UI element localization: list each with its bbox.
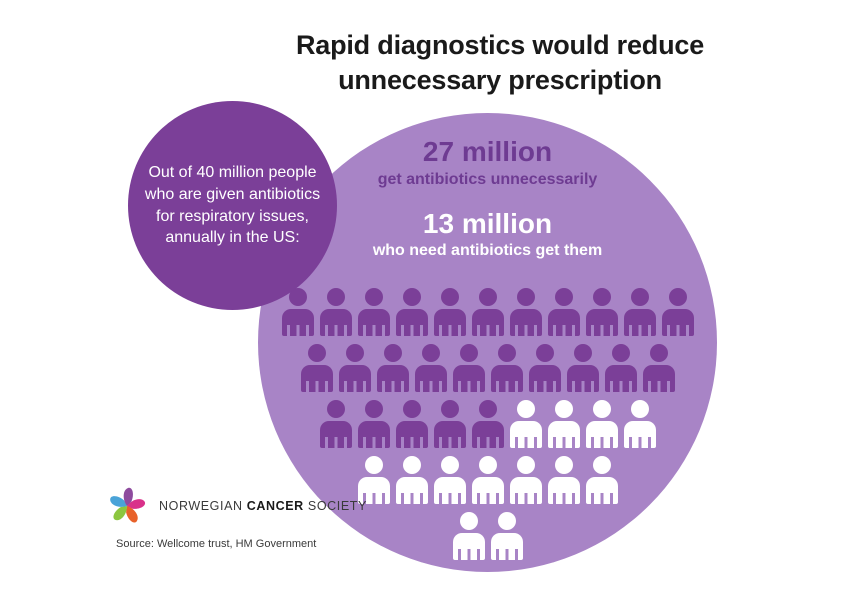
person-arm-left bbox=[382, 381, 385, 392]
person-arm-right bbox=[344, 437, 347, 448]
person-head-icon bbox=[479, 456, 497, 474]
person-head-icon bbox=[536, 344, 554, 362]
person-icon bbox=[624, 400, 656, 448]
person-head-icon bbox=[384, 344, 402, 362]
person-head-icon bbox=[612, 344, 630, 362]
person-arm-right bbox=[344, 325, 347, 336]
person-arm-left bbox=[401, 325, 404, 336]
person-leg-gap bbox=[467, 381, 470, 392]
person-arm-left bbox=[553, 493, 556, 504]
person-arm-right bbox=[534, 325, 537, 336]
person-arm-left bbox=[496, 549, 499, 560]
person-arm-right bbox=[515, 381, 518, 392]
person-icon bbox=[491, 512, 523, 560]
person-leg-gap bbox=[524, 437, 527, 448]
person-arm-left bbox=[401, 493, 404, 504]
person-arm-right bbox=[648, 437, 651, 448]
person-leg-gap bbox=[486, 493, 489, 504]
person-icon bbox=[472, 456, 504, 504]
person-leg-gap bbox=[619, 381, 622, 392]
person-arm-left bbox=[458, 549, 461, 560]
person-head-icon bbox=[517, 456, 535, 474]
person-arm-left bbox=[458, 381, 461, 392]
person-leg-gap bbox=[600, 325, 603, 336]
person-head-icon bbox=[593, 456, 611, 474]
person-arm-right bbox=[572, 437, 575, 448]
person-icon bbox=[358, 288, 390, 336]
person-icon bbox=[662, 288, 694, 336]
person-head-icon bbox=[422, 344, 440, 362]
person-arm-left bbox=[439, 493, 442, 504]
person-leg-gap bbox=[486, 325, 489, 336]
logo-name-part1: NORWEGIAN bbox=[159, 499, 247, 513]
pinwheel-logo-icon bbox=[104, 483, 150, 529]
pictogram-row-3 bbox=[258, 400, 717, 448]
person-leg-gap bbox=[372, 325, 375, 336]
person-arm-right bbox=[420, 493, 423, 504]
person-arm-left bbox=[420, 381, 423, 392]
infographic-canvas: Rapid diagnostics would reduce unnecessa… bbox=[0, 0, 841, 595]
person-arm-right bbox=[496, 493, 499, 504]
person-arm-right bbox=[382, 325, 385, 336]
person-arm-left bbox=[401, 437, 404, 448]
person-icon bbox=[643, 344, 675, 392]
person-leg-gap bbox=[486, 437, 489, 448]
person-leg-gap bbox=[296, 325, 299, 336]
person-head-icon bbox=[441, 456, 459, 474]
person-head-icon bbox=[669, 288, 687, 306]
person-arm-left bbox=[363, 437, 366, 448]
person-leg-gap bbox=[600, 437, 603, 448]
person-leg-gap bbox=[315, 381, 318, 392]
person-icon bbox=[453, 512, 485, 560]
person-icon bbox=[396, 456, 428, 504]
person-icon bbox=[548, 456, 580, 504]
person-icon bbox=[320, 288, 352, 336]
person-arm-right bbox=[629, 381, 632, 392]
person-leg-gap bbox=[448, 325, 451, 336]
person-leg-gap bbox=[372, 437, 375, 448]
person-arm-right bbox=[382, 437, 385, 448]
person-icon bbox=[358, 400, 390, 448]
person-leg-gap bbox=[638, 325, 641, 336]
person-icon bbox=[510, 288, 542, 336]
person-icon bbox=[548, 400, 580, 448]
person-arm-left bbox=[534, 381, 537, 392]
person-head-icon bbox=[365, 400, 383, 418]
person-arm-right bbox=[496, 437, 499, 448]
person-arm-right bbox=[667, 381, 670, 392]
person-arm-right bbox=[515, 549, 518, 560]
person-arm-right bbox=[401, 381, 404, 392]
person-icon bbox=[472, 400, 504, 448]
person-arm-left bbox=[287, 325, 290, 336]
person-head-icon bbox=[498, 512, 516, 530]
person-arm-right bbox=[420, 437, 423, 448]
person-head-icon bbox=[479, 400, 497, 418]
person-icon bbox=[586, 400, 618, 448]
person-arm-left bbox=[629, 325, 632, 336]
person-head-icon bbox=[517, 288, 535, 306]
person-leg-gap bbox=[562, 437, 565, 448]
person-arm-left bbox=[648, 381, 651, 392]
person-arm-left bbox=[477, 325, 480, 336]
callout-text: Out of 40 million people who are given a… bbox=[143, 162, 323, 248]
person-leg-gap bbox=[410, 325, 413, 336]
person-leg-gap bbox=[638, 437, 641, 448]
person-arm-right bbox=[420, 325, 423, 336]
person-leg-gap bbox=[429, 381, 432, 392]
person-arm-right bbox=[363, 381, 366, 392]
person-leg-gap bbox=[505, 549, 508, 560]
person-head-icon bbox=[365, 288, 383, 306]
person-head-icon bbox=[593, 400, 611, 418]
person-leg-gap bbox=[676, 325, 679, 336]
person-head-icon bbox=[593, 288, 611, 306]
person-icon bbox=[320, 400, 352, 448]
person-head-icon bbox=[555, 400, 573, 418]
person-arm-left bbox=[591, 437, 594, 448]
person-leg-gap bbox=[657, 381, 660, 392]
person-head-icon bbox=[650, 344, 668, 362]
person-arm-left bbox=[496, 381, 499, 392]
person-arm-right bbox=[496, 325, 499, 336]
person-arm-right bbox=[534, 437, 537, 448]
person-icon bbox=[339, 344, 371, 392]
person-arm-left bbox=[439, 437, 442, 448]
person-arm-left bbox=[553, 325, 556, 336]
person-leg-gap bbox=[505, 381, 508, 392]
person-leg-gap bbox=[600, 493, 603, 504]
person-arm-left bbox=[306, 381, 309, 392]
person-icon bbox=[472, 288, 504, 336]
person-icon bbox=[396, 288, 428, 336]
person-head-icon bbox=[631, 400, 649, 418]
person-head-icon bbox=[403, 288, 421, 306]
person-arm-right bbox=[648, 325, 651, 336]
person-leg-gap bbox=[581, 381, 584, 392]
person-arm-right bbox=[382, 493, 385, 504]
person-head-icon bbox=[574, 344, 592, 362]
person-leg-gap bbox=[448, 493, 451, 504]
person-arm-right bbox=[572, 493, 575, 504]
person-arm-left bbox=[439, 325, 442, 336]
person-arm-right bbox=[306, 325, 309, 336]
person-head-icon bbox=[517, 400, 535, 418]
person-icon bbox=[510, 400, 542, 448]
person-leg-gap bbox=[467, 549, 470, 560]
person-head-icon bbox=[403, 456, 421, 474]
person-head-icon bbox=[460, 344, 478, 362]
person-leg-gap bbox=[372, 493, 375, 504]
person-leg-gap bbox=[543, 381, 546, 392]
person-icon bbox=[282, 288, 314, 336]
person-arm-left bbox=[344, 381, 347, 392]
person-arm-right bbox=[458, 325, 461, 336]
callout-circle: Out of 40 million people who are given a… bbox=[128, 101, 337, 310]
person-head-icon bbox=[441, 400, 459, 418]
person-leg-gap bbox=[334, 437, 337, 448]
person-icon bbox=[434, 456, 466, 504]
person-arm-left bbox=[515, 493, 518, 504]
person-arm-left bbox=[572, 381, 575, 392]
person-head-icon bbox=[346, 344, 364, 362]
person-arm-left bbox=[515, 325, 518, 336]
person-arm-left bbox=[553, 437, 556, 448]
person-arm-left bbox=[363, 325, 366, 336]
person-arm-right bbox=[534, 493, 537, 504]
person-leg-gap bbox=[334, 325, 337, 336]
pictogram-row-1 bbox=[258, 288, 717, 336]
page-title-line-2: unnecessary prescription bbox=[240, 63, 760, 98]
person-icon bbox=[434, 288, 466, 336]
person-icon bbox=[605, 344, 637, 392]
logo-name-part2: SOCIETY bbox=[304, 499, 367, 513]
person-arm-right bbox=[686, 325, 689, 336]
person-arm-right bbox=[572, 325, 575, 336]
page-title-line-1: Rapid diagnostics would reduce bbox=[240, 28, 760, 63]
person-arm-right bbox=[553, 381, 556, 392]
person-icon bbox=[567, 344, 599, 392]
person-arm-left bbox=[515, 437, 518, 448]
person-head-icon bbox=[403, 400, 421, 418]
person-arm-left bbox=[667, 325, 670, 336]
pictogram-row-2 bbox=[258, 344, 717, 392]
person-arm-right bbox=[458, 437, 461, 448]
person-leg-gap bbox=[524, 325, 527, 336]
person-arm-left bbox=[325, 325, 328, 336]
person-icon bbox=[434, 400, 466, 448]
person-head-icon bbox=[327, 400, 345, 418]
person-head-icon bbox=[498, 344, 516, 362]
person-icon bbox=[415, 344, 447, 392]
person-arm-right bbox=[458, 493, 461, 504]
person-icon bbox=[453, 344, 485, 392]
page-title: Rapid diagnostics would reduce unnecessa… bbox=[240, 28, 760, 97]
person-arm-right bbox=[325, 381, 328, 392]
person-arm-left bbox=[591, 493, 594, 504]
person-head-icon bbox=[365, 456, 383, 474]
organization-logo: NORWEGIAN CANCER SOCIETY bbox=[104, 483, 367, 529]
person-leg-gap bbox=[562, 325, 565, 336]
person-arm-left bbox=[477, 493, 480, 504]
logo-name-bold: CANCER bbox=[247, 499, 304, 513]
person-arm-right bbox=[439, 381, 442, 392]
person-arm-right bbox=[477, 549, 480, 560]
person-icon bbox=[510, 456, 542, 504]
person-icon bbox=[396, 400, 428, 448]
person-leg-gap bbox=[524, 493, 527, 504]
person-icon bbox=[301, 344, 333, 392]
person-arm-right bbox=[610, 493, 613, 504]
person-head-icon bbox=[327, 288, 345, 306]
person-icon bbox=[529, 344, 561, 392]
person-arm-left bbox=[477, 437, 480, 448]
person-arm-left bbox=[610, 381, 613, 392]
person-icon bbox=[586, 456, 618, 504]
person-head-icon bbox=[555, 456, 573, 474]
person-icon bbox=[491, 344, 523, 392]
person-head-icon bbox=[631, 288, 649, 306]
person-arm-left bbox=[629, 437, 632, 448]
person-leg-gap bbox=[448, 437, 451, 448]
person-leg-gap bbox=[410, 493, 413, 504]
person-icon bbox=[377, 344, 409, 392]
person-arm-right bbox=[610, 437, 613, 448]
person-arm-left bbox=[591, 325, 594, 336]
person-head-icon bbox=[479, 288, 497, 306]
person-head-icon bbox=[308, 344, 326, 362]
person-arm-left bbox=[325, 437, 328, 448]
person-arm-right bbox=[610, 325, 613, 336]
person-leg-gap bbox=[562, 493, 565, 504]
person-leg-gap bbox=[410, 437, 413, 448]
person-leg-gap bbox=[391, 381, 394, 392]
person-head-icon bbox=[460, 512, 478, 530]
person-arm-right bbox=[477, 381, 480, 392]
person-head-icon bbox=[555, 288, 573, 306]
person-icon bbox=[586, 288, 618, 336]
person-arm-right bbox=[591, 381, 594, 392]
person-icon bbox=[548, 288, 580, 336]
person-icon bbox=[624, 288, 656, 336]
organization-name: NORWEGIAN CANCER SOCIETY bbox=[159, 499, 367, 513]
person-leg-gap bbox=[353, 381, 356, 392]
person-head-icon bbox=[441, 288, 459, 306]
source-attribution: Source: Wellcome trust, HM Government bbox=[116, 538, 316, 550]
